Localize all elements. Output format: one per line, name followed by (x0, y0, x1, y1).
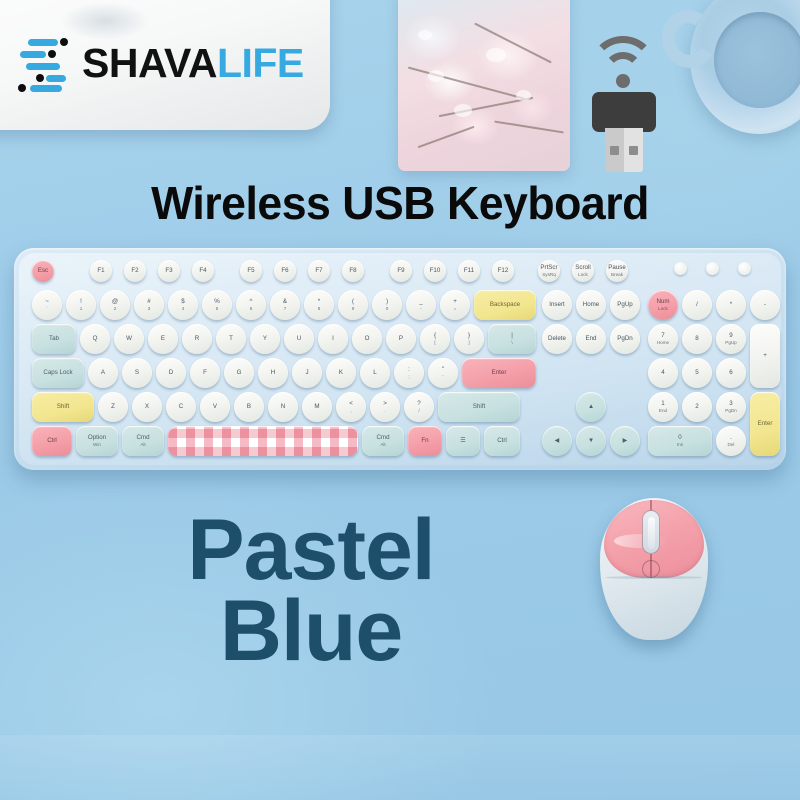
key-label: F6 (281, 268, 288, 275)
key-[interactable]: |\ (488, 324, 536, 354)
key-label: X (145, 404, 149, 411)
key-z[interactable]: Z (98, 392, 128, 422)
key-label: F7 (315, 268, 322, 275)
key-scroll-lock[interactable]: ScrollLock (572, 260, 594, 282)
key-ctrl[interactable]: Ctrl (484, 426, 520, 456)
key-label: Home (583, 302, 600, 309)
key-label: ▼ (588, 438, 594, 445)
color-variant-label: Pastel Blue (96, 510, 526, 672)
key-f9[interactable]: F9 (390, 260, 412, 282)
led-indicator (738, 262, 751, 275)
key-label: ▲ (588, 404, 594, 411)
usb-connector (605, 128, 643, 172)
key-label: 6 (729, 370, 732, 377)
key-label: ◀ (555, 438, 560, 445)
wifi-dot-icon (616, 74, 630, 88)
key-[interactable]: ◀ (542, 426, 572, 456)
key-sublabel: 1 (80, 306, 83, 311)
key-label: PrtScr (540, 265, 557, 272)
key-label: F3 (165, 268, 172, 275)
mug-interior (714, 12, 800, 108)
petal (428, 70, 444, 82)
key-1[interactable]: !1 (66, 290, 96, 320)
key-label: " (442, 367, 444, 374)
key-g[interactable]: G (224, 358, 254, 388)
key-f7[interactable]: F7 (308, 260, 330, 282)
key-label: Backspace (490, 302, 520, 309)
key-sublabel: - (420, 306, 422, 311)
key-option-win[interactable]: OptionWin (76, 426, 118, 456)
key-label: * (730, 302, 732, 309)
key-label: B (247, 404, 251, 411)
key-label: Z (111, 404, 115, 411)
key-label: Scroll (575, 265, 590, 272)
key-fn[interactable]: Fn (408, 426, 442, 456)
key-f2[interactable]: F2 (124, 260, 146, 282)
key-end[interactable]: End (576, 324, 606, 354)
key-label: C (179, 404, 183, 411)
key-sublabel: 7 (284, 306, 287, 311)
key-label: V (213, 404, 217, 411)
keyboard-keys-area: EscF1F2F3F4F5F6F7F8F9F10F11F12PrtScrSysR… (14, 248, 786, 470)
key-label: Delete (548, 336, 566, 343)
key-sublabel: ' (443, 374, 444, 379)
key-label: E (161, 336, 165, 343)
key-s[interactable]: S (122, 358, 152, 388)
key-label: T (229, 336, 233, 343)
key-sublabel: Lock (658, 306, 668, 311)
key-label: F12 (498, 268, 509, 275)
laptop-reflection (60, 2, 150, 40)
key-label: Shift (57, 404, 69, 411)
key-label: F1 (97, 268, 104, 275)
key-f[interactable]: F (190, 358, 220, 388)
key-sublabel: Alt (140, 442, 145, 447)
key-label: ☰ (460, 438, 466, 445)
branch (408, 67, 524, 100)
key-label: PgDn (617, 336, 632, 343)
key-prtscr-sysrq[interactable]: PrtScrSysRq (538, 260, 560, 282)
key-4[interactable]: 4 (648, 358, 678, 388)
key-label: Insert (549, 302, 564, 309)
key-x[interactable]: X (132, 392, 162, 422)
key-label: F11 (464, 268, 474, 275)
key-sublabel: Home (657, 340, 669, 345)
key-label: L (373, 370, 376, 377)
key-label: 9 (729, 333, 732, 340)
key-space[interactable] (168, 426, 358, 456)
key-[interactable]: }] (454, 324, 484, 354)
key-label: & (283, 299, 287, 306)
key-a[interactable]: A (88, 358, 118, 388)
key-[interactable]: * (716, 290, 746, 320)
key-label: Caps Lock (43, 370, 72, 377)
key-5[interactable]: 5 (682, 358, 712, 388)
key-[interactable]: + (750, 324, 780, 388)
key-sublabel: 0 (386, 306, 389, 311)
key-[interactable]: ~` (32, 290, 62, 320)
key-label: H (271, 370, 275, 377)
key-[interactable]: "' (428, 358, 458, 388)
key-shift[interactable]: Shift (32, 392, 94, 422)
key-[interactable]: ▶ (610, 426, 640, 456)
key-label: Enter (758, 421, 773, 428)
key-label: | (511, 333, 513, 340)
key-label: _ (419, 299, 422, 306)
key-label: Pause (608, 265, 626, 272)
key-label: F2 (131, 268, 138, 275)
speed-lines-icon (16, 36, 68, 90)
key-label: ( (352, 299, 354, 306)
key-9[interactable]: (9 (338, 290, 368, 320)
key-label: Esc (38, 268, 48, 275)
key-i[interactable]: I (318, 324, 348, 354)
color-variant-line1: Pastel (96, 510, 526, 591)
key-pgup[interactable]: PgUp (610, 290, 640, 320)
key-c[interactable]: C (166, 392, 196, 422)
key-label: M (314, 404, 319, 411)
key-j[interactable]: J (292, 358, 322, 388)
key-sublabel: Del (728, 442, 735, 447)
key-sublabel: ` (46, 306, 48, 311)
key-sublabel: \ (511, 340, 512, 345)
led-indicator (706, 262, 719, 275)
key-5[interactable]: %5 (202, 290, 232, 320)
key-ctrl[interactable]: Ctrl (32, 426, 72, 456)
petal (454, 104, 472, 117)
key-sublabel: 4 (182, 306, 185, 311)
key-label: Tab (49, 336, 59, 343)
key-label: / (696, 302, 698, 309)
key-delete[interactable]: Delete (542, 324, 572, 354)
key-esc[interactable]: Esc (32, 260, 54, 282)
key-sublabel: 3 (148, 306, 151, 311)
key-label: } (468, 333, 470, 340)
key-[interactable]: <, (336, 392, 366, 422)
key-label: Y (263, 336, 267, 343)
key-6[interactable]: 6 (716, 358, 746, 388)
key-0-ins[interactable]: 0Ins (648, 426, 712, 456)
key-label: Q (93, 336, 98, 343)
petal (418, 30, 432, 40)
key-label: @ (112, 299, 118, 306)
key-label: 1 (661, 401, 664, 408)
page-title: Wireless USB Keyboard (12, 176, 788, 230)
key-sublabel: / (418, 408, 419, 413)
key-n[interactable]: N (268, 392, 298, 422)
key-label: ) (386, 299, 388, 306)
key-sublabel: 6 (250, 306, 253, 311)
key-sublabel: 2 (114, 306, 117, 311)
key-label: : (408, 367, 410, 374)
key-label: U (297, 336, 301, 343)
key-label: Cmd (136, 435, 149, 442)
key-label: O (365, 336, 370, 343)
key-pgdn[interactable]: PgDn (610, 324, 640, 354)
key-label: ▶ (623, 438, 628, 445)
cherry-blossom-photo (398, 0, 570, 171)
key-q[interactable]: Q (80, 324, 110, 354)
petal (486, 48, 506, 62)
usb-wifi-dongle-icon (578, 30, 672, 172)
key-4[interactable]: $4 (168, 290, 198, 320)
key-label: 5 (695, 370, 698, 377)
key-d[interactable]: D (156, 358, 186, 388)
key-sublabel: PgUp (725, 340, 737, 345)
key-label: < (349, 401, 353, 408)
key-[interactable]: - (750, 290, 780, 320)
key-f10[interactable]: F10 (424, 260, 446, 282)
key-2[interactable]: 2 (682, 392, 712, 422)
key-label: ! (80, 299, 82, 306)
key-label: Shift (473, 404, 485, 411)
key-label: Num (656, 299, 669, 306)
key-sublabel: Alt (380, 442, 385, 447)
key-label: + (763, 353, 767, 360)
key-label: ~ (45, 299, 49, 306)
key-sublabel: 5 (216, 306, 219, 311)
key-home[interactable]: Home (576, 290, 606, 320)
branch (494, 121, 563, 134)
key-label: End (585, 336, 596, 343)
key-label: F9 (397, 268, 404, 275)
key-label: Ctrl (47, 438, 57, 445)
key-sublabel: = (454, 306, 457, 311)
key-label: + (453, 299, 457, 306)
key-8[interactable]: 8 (682, 324, 712, 354)
key-w[interactable]: W (114, 324, 144, 354)
key-label: . (730, 435, 732, 442)
key-h[interactable]: H (258, 358, 288, 388)
key-label: D (169, 370, 173, 377)
key-k[interactable]: K (326, 358, 356, 388)
brand-name-secondary: LIFE (217, 40, 304, 86)
key-sublabel: 8 (318, 306, 321, 311)
key-label: Option (88, 435, 106, 442)
key-label: 8 (695, 336, 698, 343)
brand-wordmark: SHAVALIFE (82, 43, 304, 84)
key-label: F (203, 370, 207, 377)
key-e[interactable]: E (148, 324, 178, 354)
key-7-home[interactable]: 7Home (648, 324, 678, 354)
key-label: ? (417, 401, 420, 408)
key-label: A (101, 370, 105, 377)
key-label: G (237, 370, 242, 377)
key-label: 7 (661, 333, 664, 340)
key-sublabel: Ins (677, 442, 683, 447)
key-label: I (332, 336, 334, 343)
key-pause-break[interactable]: PauseBreak (606, 260, 628, 282)
key-[interactable]: ?/ (404, 392, 434, 422)
key-label: 3 (729, 401, 732, 408)
key-enter[interactable]: Enter (750, 392, 780, 456)
key-label: F4 (199, 268, 206, 275)
key-label: P (399, 336, 403, 343)
key-f1[interactable]: F1 (90, 260, 112, 282)
key-[interactable]: += (440, 290, 470, 320)
key-p[interactable]: P (386, 324, 416, 354)
key-label: F10 (430, 268, 441, 275)
key-sublabel: ; (408, 374, 409, 379)
key-enter[interactable]: Enter (462, 358, 536, 388)
key-label: Cmd (376, 435, 389, 442)
key-u[interactable]: U (284, 324, 314, 354)
key-label: 4 (661, 370, 664, 377)
key-0[interactable]: )0 (372, 290, 402, 320)
dongle-body (592, 92, 656, 132)
usb-pin (610, 146, 619, 155)
key-label: { (434, 333, 436, 340)
key-sublabel: 9 (352, 306, 355, 311)
branch (418, 126, 475, 148)
key-label: - (764, 302, 766, 309)
mouse-seam (605, 576, 703, 579)
key-label: 0 (678, 435, 681, 442)
led-indicator (674, 262, 687, 275)
key-sublabel: ] (468, 340, 469, 345)
key-2[interactable]: @2 (100, 290, 130, 320)
key-t[interactable]: T (216, 324, 246, 354)
key-shift[interactable]: Shift (438, 392, 520, 422)
key-label: * (318, 299, 320, 306)
key-label: J (305, 370, 308, 377)
key-label: Fn (421, 438, 428, 445)
key-tab[interactable]: Tab (32, 324, 76, 354)
key-label: N (281, 404, 285, 411)
key-[interactable]: _- (406, 290, 436, 320)
key-sublabel: Break (611, 272, 623, 277)
key-8[interactable]: *8 (304, 290, 334, 320)
key-label: S (135, 370, 139, 377)
key-f3[interactable]: F3 (158, 260, 180, 282)
key-1-end[interactable]: 1End (648, 392, 678, 422)
key-o[interactable]: O (352, 324, 382, 354)
key-num-lock[interactable]: NumLock (648, 290, 678, 320)
scroll-wheel[interactable] (642, 510, 660, 554)
key-f4[interactable]: F4 (192, 260, 214, 282)
key-6[interactable]: ^6 (236, 290, 266, 320)
petal (516, 90, 531, 101)
key-[interactable]: >. (370, 392, 400, 422)
key-label: PgUp (617, 302, 632, 309)
key-f6[interactable]: F6 (274, 260, 296, 282)
key-9-pgup[interactable]: 9PgUp (716, 324, 746, 354)
key-label: 2 (695, 404, 698, 411)
key-backspace[interactable]: Backspace (474, 290, 536, 320)
key-[interactable]: ▼ (576, 426, 606, 456)
ceramic-mug (690, 0, 800, 134)
key-f8[interactable]: F8 (342, 260, 364, 282)
key-sublabel: . (384, 408, 385, 413)
wireless-keyboard[interactable]: EscF1F2F3F4F5F6F7F8F9F10F11F12PrtScrSysR… (14, 248, 786, 470)
key-label: ^ (250, 299, 253, 306)
key-label: $ (181, 299, 184, 306)
key-caps-lock[interactable]: Caps Lock (32, 358, 84, 388)
key-3[interactable]: #3 (134, 290, 164, 320)
key-label: R (195, 336, 199, 343)
key-sublabel: , (350, 408, 351, 413)
key-cmd-alt[interactable]: CmdAlt (362, 426, 404, 456)
key-sublabel: Lock (578, 272, 588, 277)
key-cmd-alt[interactable]: CmdAlt (122, 426, 164, 456)
key-7[interactable]: &7 (270, 290, 300, 320)
key-sublabel: [ (434, 340, 435, 345)
key-label: Ctrl (497, 438, 507, 445)
key-sublabel: End (659, 408, 667, 413)
key-y[interactable]: Y (250, 324, 280, 354)
key-label: Enter (492, 370, 507, 377)
key-label: K (339, 370, 343, 377)
wireless-mouse[interactable] (600, 498, 708, 640)
key-f11[interactable]: F11 (458, 260, 480, 282)
key-[interactable]: ☰ (446, 426, 480, 456)
key-3-pgdn[interactable]: 3PgDn (716, 392, 746, 422)
key-b[interactable]: B (234, 392, 264, 422)
key-f12[interactable]: F12 (492, 260, 514, 282)
brand-logo[interactable]: SHAVALIFE (16, 36, 304, 90)
key-sublabel: PgDn (725, 408, 737, 413)
key-label: > (383, 401, 387, 408)
usb-pin (629, 146, 638, 155)
key-f5[interactable]: F5 (240, 260, 262, 282)
key-label: % (214, 299, 220, 306)
key-label: F8 (349, 268, 356, 275)
key-m[interactable]: M (302, 392, 332, 422)
key-insert[interactable]: Insert (542, 290, 572, 320)
key-label: F5 (247, 268, 254, 275)
color-variant-line2: Blue (96, 591, 526, 672)
key-[interactable]: ▲ (576, 392, 606, 422)
key-label: # (147, 299, 150, 306)
key-[interactable]: :; (394, 358, 424, 388)
key-label: W (126, 336, 132, 343)
key-sublabel: Win (93, 442, 101, 447)
brand-name-primary: SHAVA (82, 40, 217, 86)
key-l[interactable]: L (360, 358, 390, 388)
key-sublabel: SysRq (542, 272, 556, 277)
key-v[interactable]: V (200, 392, 230, 422)
key-del[interactable]: .Del (716, 426, 746, 456)
key-[interactable]: {[ (420, 324, 450, 354)
key-r[interactable]: R (182, 324, 212, 354)
key-[interactable]: / (682, 290, 712, 320)
